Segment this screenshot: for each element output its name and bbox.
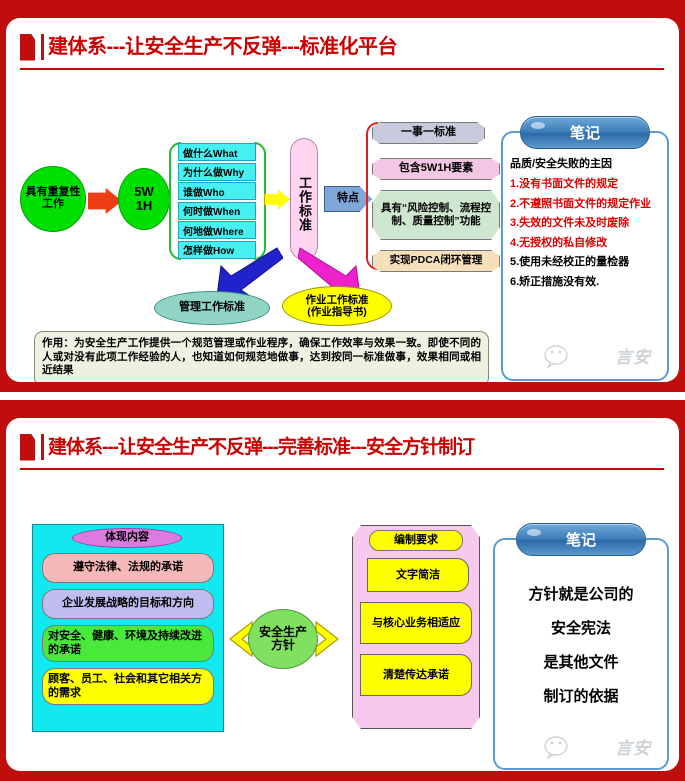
list-item: 为什么做Why xyxy=(178,163,256,181)
page-title: 建体系---让安全生产不反弹---标准化平台 xyxy=(48,37,397,57)
title-underline xyxy=(20,68,664,70)
notes-body: 方针就是公司的 安全宪法 是其他文件 制订的依据 xyxy=(495,540,667,706)
flag-icon xyxy=(20,434,36,461)
left-panel-item: 遵守法律、法规的承诺 xyxy=(42,553,214,583)
feature-box: 具有“风险控制、流程控制、质量控制”功能 xyxy=(372,190,500,240)
notes-item: 3.失效的文件未及时废除 xyxy=(510,214,661,230)
right-panel-item: 文字简洁 xyxy=(367,558,469,592)
right-panel-item: 清楚传达承诺 xyxy=(360,654,472,696)
list-item: 何时做When xyxy=(178,202,256,220)
feature-box: 包含5W1H要素 xyxy=(372,158,500,180)
flag-icon xyxy=(20,34,36,61)
slide-1-title-row: 建体系---让安全生产不反弹---标准化平台 xyxy=(6,26,679,68)
notes-item: 6.矫正措施没有效. xyxy=(510,273,661,289)
notes-line: 方针就是公司的 xyxy=(495,583,667,604)
title-divider xyxy=(41,434,44,460)
right-panel-item: 与核心业务相适应 xyxy=(360,602,472,644)
right-panel-caption: 编制要求 xyxy=(369,530,463,551)
flow-5w1h-label: 5W 1H xyxy=(134,185,154,213)
center-policy-label: 安全生产 方针 xyxy=(259,626,307,652)
notes-item: 1.没有书面文件的规定 xyxy=(510,175,661,191)
watermark-text: 言安 xyxy=(615,734,651,759)
wechat-icon xyxy=(543,344,577,368)
flow-5w1h-node: 5W 1H xyxy=(118,168,170,230)
slide-deck-page: 建体系---让安全生产不反弹---标准化平台 具有重复性工作 5W 1H 做什么… xyxy=(0,0,685,781)
w5h1-list: 做什么What 为什么做Why 谁做Who 何时做When 何地做Where 怎… xyxy=(178,143,256,260)
flow-start-node: 具有重复性工作 xyxy=(20,166,86,232)
feature-label-node: 特点 xyxy=(324,186,372,212)
outcome-management-standard: 管理工作标准 xyxy=(154,291,270,325)
left-panel-item: 对安全、健康、环境及持续改进的承诺 xyxy=(42,625,214,662)
notes-body: 品质/安全失败的主因 1.没有书面文件的规定 2.不遵照书面文件的规定作业 3.… xyxy=(503,133,667,296)
purpose-note-box: 作用：为安全生产工作提供一个规范管理或作业程序，确保工作效率与效果一致。即使不同… xyxy=(34,331,489,382)
title-divider xyxy=(41,34,44,60)
notes-item: 5.使用未经校正的量检器 xyxy=(510,253,661,269)
blue-down-arrow-icon xyxy=(211,246,283,298)
center-policy-node: 安全生产 方针 xyxy=(248,609,318,669)
slide-2-title-row: 建体系---让安全生产不反弹---完善标准---安全方针制订 xyxy=(6,426,679,468)
notes-line: 安全宪法 xyxy=(495,617,667,638)
left-panel-item: 企业发展战略的目标和方向 xyxy=(42,589,214,619)
outcome-operation-label: 作业工作标准 (作业指导书) xyxy=(306,294,369,318)
notes-item: 2.不遵照书面文件的规定作业 xyxy=(510,195,661,211)
wechat-icon xyxy=(543,735,577,759)
notes-tab-label: 笔记 xyxy=(516,523,646,556)
left-panel-caption: 体现内容 xyxy=(72,528,182,548)
feature-box: 实现PDCA闭环管理 xyxy=(372,250,500,272)
notes-line: 制订的依据 xyxy=(495,685,667,706)
notes-line: 是其他文件 xyxy=(495,651,667,672)
red-brace-icon xyxy=(366,122,378,270)
notes-panel: 笔记 方针就是公司的 安全宪法 是其他文件 制订的依据 言安 xyxy=(493,538,669,770)
left-panel-item: 顾客、员工、社会和其它相关方的需求 xyxy=(42,668,214,705)
page-title: 建体系---让安全生产不反弹---完善标准---安全方针制订 xyxy=(48,438,474,457)
red-arrow-icon xyxy=(88,188,122,214)
yellow-arrow-icon xyxy=(264,190,290,209)
list-item: 何地做Where xyxy=(178,221,256,239)
list-item: 谁做Who xyxy=(178,182,256,200)
notes-panel: 笔记 品质/安全失败的主因 1.没有书面文件的规定 2.不遵照书面文件的规定作业… xyxy=(501,131,669,381)
outcome-operation-standard: 作业工作标准 (作业指导书) xyxy=(282,286,392,326)
watermark: 言安 xyxy=(543,343,651,369)
notes-heading: 品质/安全失败的主因 xyxy=(510,155,661,171)
slide-1: 建体系---让安全生产不反弹---标准化平台 具有重复性工作 5W 1H 做什么… xyxy=(0,0,685,392)
watermark-text: 言安 xyxy=(615,343,651,368)
feature-box: 一事一标准 xyxy=(372,122,485,144)
title-underline xyxy=(20,468,664,470)
notes-tab-label: 笔记 xyxy=(520,116,650,149)
work-standard-node: 工作标准 xyxy=(290,138,318,260)
list-item: 做什么What xyxy=(178,143,256,161)
watermark: 言安 xyxy=(543,734,651,760)
slide-1-card: 建体系---让安全生产不反弹---标准化平台 具有重复性工作 5W 1H 做什么… xyxy=(6,18,679,382)
notes-item: 4.无授权的私自修改 xyxy=(510,234,661,250)
